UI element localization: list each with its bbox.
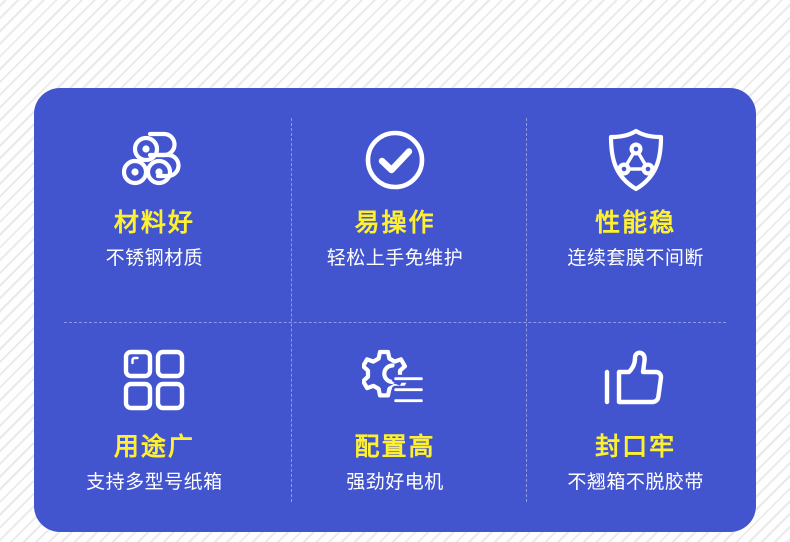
feature-title: 材料好: [114, 209, 195, 239]
feature-subtitle: 不翘箱不脱胶带: [567, 471, 704, 495]
feature-subtitle: 轻松上手免维护: [327, 247, 464, 271]
feature-title: 配置高: [354, 433, 435, 463]
grid-squares-icon: [123, 347, 185, 413]
feature-subtitle: 连续套膜不间断: [567, 247, 704, 271]
feature-card: 材料好 不锈钢材质 易操作 轻松上手免维护: [34, 88, 756, 532]
feature-cell-wide-application[interactable]: 用途广 支持多型号纸箱: [34, 310, 275, 532]
feature-cell-strong-sealing[interactable]: 封口牢 不翘箱不脱胶带: [515, 310, 756, 532]
feature-cell-material[interactable]: 材料好 不锈钢材质: [34, 88, 275, 310]
feature-subtitle: 不锈钢材质: [106, 247, 204, 271]
feature-subtitle: 强劲好电机: [346, 471, 444, 495]
paper-rolls-icon: [118, 127, 190, 193]
feature-title: 性能稳: [595, 209, 676, 239]
check-circle-icon: [363, 127, 427, 193]
feature-grid: 材料好 不锈钢材质 易操作 轻松上手免维护: [34, 88, 756, 532]
feature-title: 用途广: [114, 433, 195, 463]
feature-subtitle: 支持多型号纸箱: [86, 471, 223, 495]
feature-title: 封口牢: [595, 433, 676, 463]
feature-title: 易操作: [354, 209, 435, 239]
feature-cell-easy-operation[interactable]: 易操作 轻松上手免维护: [275, 88, 516, 310]
shield-network-icon: [605, 127, 667, 193]
thumbs-up-icon: [604, 347, 668, 413]
feature-cell-high-configuration[interactable]: 配置高 强劲好电机: [275, 310, 516, 532]
gear-settings-icon: [362, 347, 428, 413]
feature-cell-stable-performance[interactable]: 性能稳 连续套膜不间断: [515, 88, 756, 310]
